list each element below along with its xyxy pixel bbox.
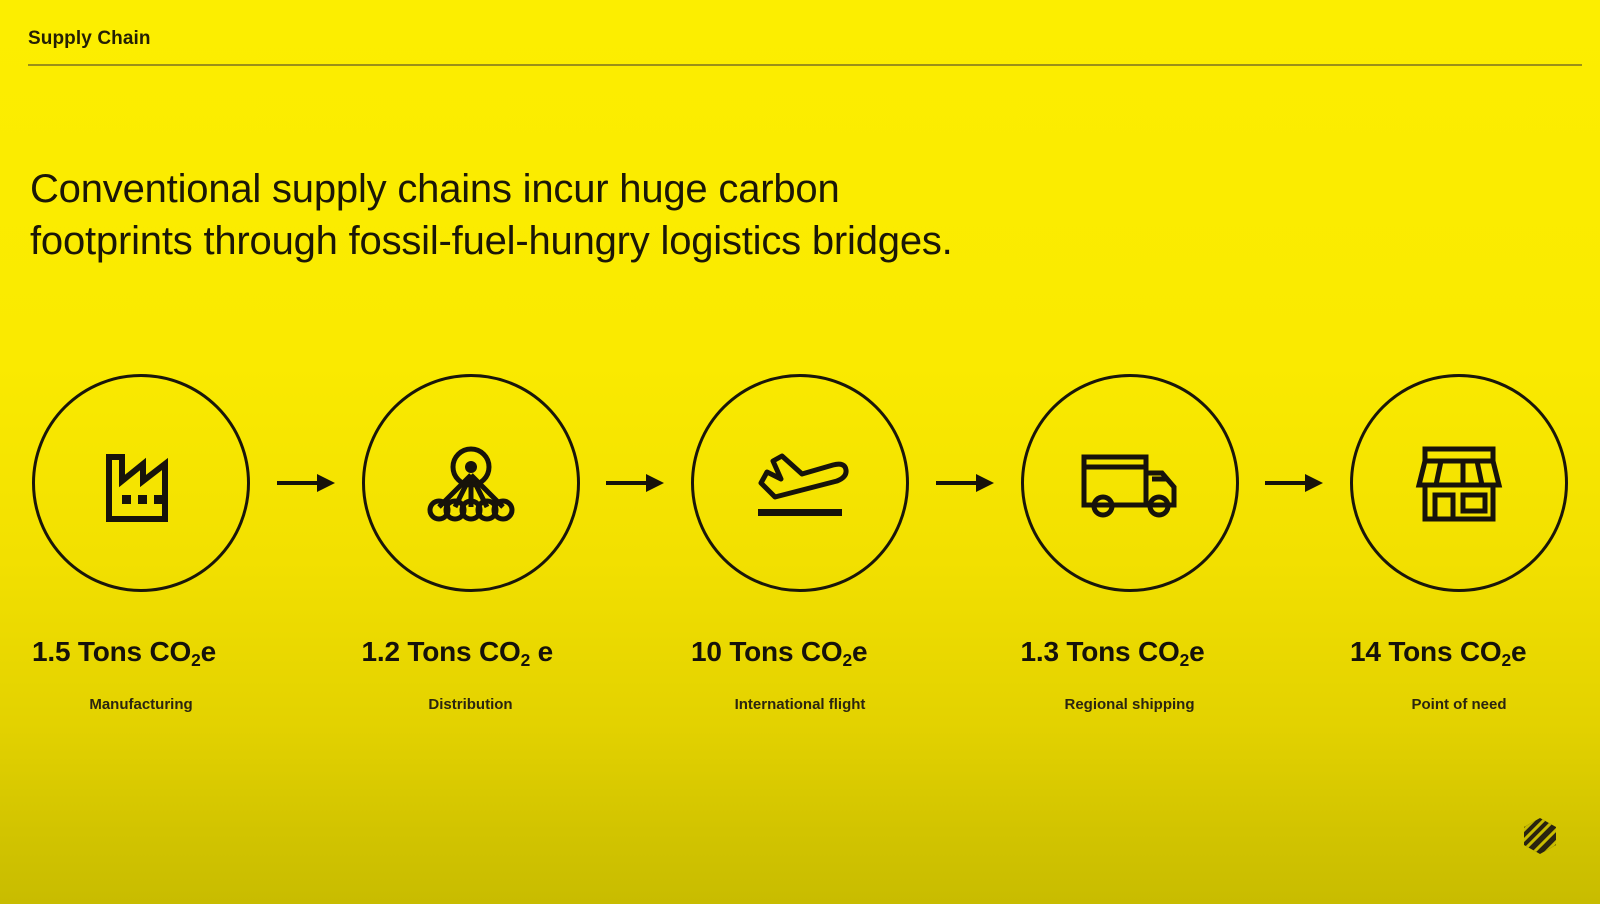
headline-line-1: Conventional supply chains incur huge ca… — [30, 163, 953, 215]
stage-value: 10 Tons CO2e — [691, 636, 867, 668]
stage-icon-circle — [691, 374, 909, 592]
stage-icon-circle — [362, 374, 580, 592]
stage-value-unit-pre: Tons CO — [722, 636, 843, 667]
stage-value: 1.3 Tons CO2e — [1021, 636, 1205, 668]
headline: Conventional supply chains incur huge ca… — [30, 163, 953, 267]
stage-icon-circle — [1350, 374, 1568, 592]
flow-arrow-3 — [909, 374, 1021, 592]
stage-icon-circle — [32, 374, 250, 592]
supply-chain-flow: 1.5 Tons CO2e Manufacturing — [0, 374, 1600, 713]
stage-international-flight: 10 Tons CO2e International flight — [691, 374, 909, 713]
delivery-truck-icon — [1076, 441, 1184, 525]
stage-value-unit-post: e — [530, 636, 553, 667]
distribution-hub-icon — [421, 437, 521, 529]
stage-value-number: 10 — [691, 636, 722, 667]
stage-value-unit-pre: Tons CO — [1381, 636, 1502, 667]
arrow-right-icon — [604, 470, 666, 496]
stage-point-of-need: 14 Tons CO2e Point of need — [1350, 374, 1568, 713]
stage-value-number: 1.3 — [1021, 636, 1059, 667]
airplane-takeoff-icon — [745, 439, 855, 527]
stage-caption: Distribution — [428, 696, 512, 713]
stage-caption: International flight — [735, 696, 866, 713]
stage-value-unit-pre: Tons CO — [1059, 636, 1180, 667]
stage-value-number: 1.5 — [32, 636, 70, 667]
stage-value-unit-pre: Tons CO — [70, 636, 191, 667]
stage-value-subscript: 2 — [843, 650, 852, 670]
stage-value-subscript: 2 — [191, 650, 200, 670]
flow-arrow-1 — [250, 374, 362, 592]
stage-value-number: 1.2 — [362, 636, 400, 667]
stage-value: 1.2 Tons CO2 e — [362, 636, 554, 668]
stage-value-unit-post: e — [1511, 636, 1526, 667]
page-title: Supply Chain — [28, 28, 1582, 50]
stage-distribution: 1.2 Tons CO2 e Distribution — [362, 374, 580, 713]
stage-regional-shipping: 1.3 Tons CO2e Regional shipping — [1021, 374, 1239, 713]
stage-value-subscript: 2 — [1180, 650, 1189, 670]
stage-value-unit-post: e — [201, 636, 216, 667]
stage-value: 14 Tons CO2e — [1350, 636, 1526, 668]
hexagon-striped-logo — [1520, 816, 1560, 856]
stage-caption: Point of need — [1412, 696, 1507, 713]
stage-value-number: 14 — [1350, 636, 1381, 667]
stage-value-unit-pre: Tons CO — [400, 636, 521, 667]
headline-line-2: footprints through fossil-fuel-hungry lo… — [30, 215, 953, 267]
stage-icon-circle — [1021, 374, 1239, 592]
stage-value-unit-post: e — [1189, 636, 1204, 667]
storefront-icon — [1411, 437, 1507, 529]
stage-value-unit-post: e — [852, 636, 867, 667]
flow-arrow-2 — [580, 374, 692, 592]
header-divider — [28, 64, 1582, 66]
stage-caption: Regional shipping — [1065, 696, 1195, 713]
flow-arrow-4 — [1239, 374, 1351, 592]
stage-value-subscript: 2 — [521, 650, 530, 670]
arrow-right-icon — [1263, 470, 1325, 496]
stage-caption: Manufacturing — [89, 696, 192, 713]
arrow-right-icon — [275, 470, 337, 496]
slide-header: Supply Chain — [28, 28, 1582, 66]
stage-value: 1.5 Tons CO2e — [32, 636, 216, 668]
stage-manufacturing: 1.5 Tons CO2e Manufacturing — [32, 374, 250, 713]
factory-icon — [95, 437, 187, 529]
stage-value-subscript: 2 — [1502, 650, 1511, 670]
arrow-right-icon — [934, 470, 996, 496]
